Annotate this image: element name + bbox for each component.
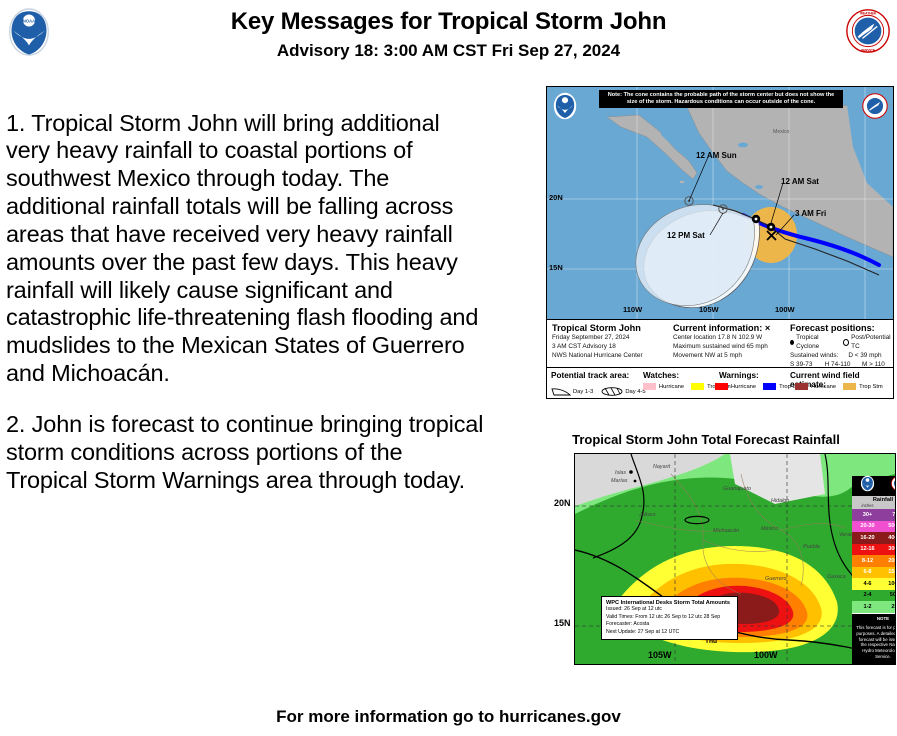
rainfall-legend-row: 20-30500-750 [852,521,896,533]
rainfall-inches-value: 16-20 [852,532,883,544]
svg-text:Guerrero: Guerrero [765,576,787,582]
wind-tropstm-swatch [843,383,856,390]
legend-warnings-title: Warnings: [719,371,759,380]
storm-agency: NWS National Hurricane Center [552,351,692,360]
key-messages-list: 1. Tropical Storm John will bring additi… [6,86,486,513]
rainfall-inches-value: 2-4 [852,590,883,602]
svg-text:Nayarit: Nayarit [653,464,671,470]
rainfall-legend-rows: 30+750+20-30500-75016-20400-50012-16300-… [852,509,896,613]
svg-text:WEATHER: WEATHER [860,11,877,15]
rainfall-inches-value: 30+ [852,509,883,521]
svg-text:Hidalgo: Hidalgo [771,498,789,504]
rainfall-legend: Rainfall inches mm 30+750+20-30500-75016… [852,476,896,665]
forecast-point-label-12am-sat: 12 AM Sat [781,177,819,186]
nws-logo-icon-cone [862,92,888,120]
page-title: Key Messages for Tropical Storm John [0,8,897,36]
cone-legend-panel: Potential track area: Day 1-3 Day 4-5 Wa… [547,367,893,398]
forecast-cone-graphic[interactable]: Note: The cone contains the probable pat… [546,86,894,399]
rainfall-legend-row: 4-6100-150 [852,578,896,590]
current-center-location: Center location 17.8 N 102.9 W [673,333,795,342]
rainfall-note-body: This forecast is for planning purposes. … [852,623,896,661]
rainfall-legend-row: 8-12200-300 [852,555,896,567]
legend-track-day13: Day 1-3 [573,389,593,395]
rain-lon-label-105w: 105W [648,650,672,660]
rainfall-legend-row: 30+750+ [852,509,896,521]
rainfall-legend-row: 12-16300-400 [852,544,896,556]
wpc-info-box: WPC International Desks Storm Total Amou… [601,596,738,640]
sustained-winds-label: Sustained winds: [790,351,838,360]
cone-info-panel: Tropical Storm John Friday September 27,… [547,319,893,367]
forecast-positions-title: Forecast positions: [790,323,892,333]
wind-scale-d: D < 39 mph [848,351,881,360]
legend-warn-hurricane: Hurricane [731,384,756,390]
rainfall-mm-value: 300-400 [883,544,896,556]
cone-lon-label-100w: 100W [775,305,795,314]
rainfall-inches-value: 8-12 [852,555,883,567]
rainfall-legend-row: 1-225-50 [852,601,896,613]
rainfall-mm-value: 750+ [883,509,896,521]
forecast-point-label-3am-fri: 3 AM Fri [795,209,826,218]
cone-lon-label-110w: 110W [623,305,642,314]
noaa-logo-icon-rain [860,475,875,497]
page-subtitle: Advisory 18: 3:00 AM CST Fri Sep 27, 202… [0,41,897,61]
map-country-label: Mexico [773,129,789,135]
forecast-point-label-12pm-sat: 12 PM Sat [667,231,705,240]
rainfall-title: Tropical Storm John Total Forecast Rainf… [556,432,856,447]
noaa-logo-icon-cone [552,92,578,120]
legend-potential-track-title: Potential track area: [551,371,629,380]
track-day13-icon [551,383,571,401]
watch-hurricane-swatch [643,383,656,390]
tropical-cyclone-dot-icon [790,340,794,345]
warn-hurricane-swatch [715,383,728,390]
rainfall-inches-value: 20-30 [852,521,883,533]
cone-lat-label-20n: 20N [549,193,563,202]
rainfall-inches-value: 1-2 [852,601,883,613]
warn-tropstm-swatch [763,383,776,390]
rainfall-forecast-graphic[interactable]: Tropical Storm John Total Forecast Rainf… [556,432,896,668]
rain-lat-label-15n: 15N [554,618,571,628]
rain-lat-label-20n: 20N [554,498,571,508]
svg-text:Guanajuato: Guanajuato [723,486,751,492]
rainfall-inches-value: 12-16 [852,544,883,556]
legend-tropical-cyclone: Tropical Cyclone [796,333,835,351]
rainfall-inches-value: 6-8 [852,567,883,579]
watch-tropstm-swatch [691,383,704,390]
legend-wind-hurricane: Hurricane [811,384,836,390]
wpc-issued: Issued: 26 Sep at 12 utc [606,606,733,614]
wpc-forecaster: Forecaster: Acosta [606,621,733,629]
nws-logo-icon: WEATHER SERVICE [845,5,891,57]
rainfall-legend-row: 16-20400-500 [852,532,896,544]
storm-date: Friday September 27, 2024 [552,333,692,342]
svg-text:Michoacán: Michoacán [713,528,739,534]
legend-watch-hurricane: Hurricane [659,384,684,390]
post-potential-tc-dot-icon [843,339,849,346]
rainfall-map[interactable]: Islas Marías Nayarit Jalisco Guanajuato … [574,453,896,665]
rainfall-mm-value: 500-750 [883,521,896,533]
rainfall-unit-mm: mm [883,503,896,508]
rainfall-mm-value: 400-500 [883,532,896,544]
svg-text:Islas: Islas [615,470,626,476]
cone-lat-label-15n: 15N [549,263,563,272]
svg-text:México: México [761,526,778,532]
track-day45-icon [601,383,623,401]
rainfall-mm-value: 200-300 [883,555,896,567]
rainfall-note-title: NOTE [852,614,896,624]
key-message-2: 2. John is forecast to continue bringing… [6,411,486,495]
svg-text:Puebla: Puebla [803,544,820,550]
wpc-valid-times: Valid Times: From 12 utc 26 Sep to 12 ut… [606,614,733,622]
legend-wind-tropstm: Trop Stm [859,384,883,390]
nws-logo-icon-rain [891,475,896,497]
svg-text:Oaxaca: Oaxaca [827,574,846,580]
svg-text:Marías: Marías [611,478,628,484]
current-information-title: Current information: × [673,323,795,333]
wind-hurricane-swatch [795,383,808,390]
legend-watches-title: Watches: [643,371,679,380]
rainfall-mm-value: 150-200 [883,567,896,579]
storm-name: Tropical Storm John [552,323,692,333]
rainfall-inches-value: 4-6 [852,578,883,590]
rainfall-mm-value: 100-150 [883,578,896,590]
footer-text: For more information go to hurricanes.go… [0,707,897,727]
cone-map[interactable]: Note: The cone contains the probable pat… [547,87,893,319]
cone-note-text: Note: The cone contains the probable pat… [599,90,843,108]
svg-text:Jalisco: Jalisco [638,512,655,518]
current-max-wind: Maximum sustained wind 65 mph [673,342,795,351]
current-movement: Movement NW at 5 mph [673,351,795,360]
rainfall-mm-value: 50-100 [883,590,896,602]
rainfall-legend-row: 6-8150-200 [852,567,896,579]
cone-lon-label-105w: 105W [699,305,719,314]
storm-advisory: 3 AM CST Advisory 18 [552,342,692,351]
rain-lon-label-100w: 100W [754,650,778,660]
svg-text:SERVICE: SERVICE [861,49,876,53]
rainfall-mm-value: 25-50 [883,601,896,613]
legend-post-potential-tc: Post/Potential TC [851,333,892,351]
forecast-point-label-12am-sun: 12 AM Sun [696,151,737,160]
rainfall-legend-row: 2-450-100 [852,590,896,602]
rainfall-unit-inches: inches [852,503,883,508]
wpc-next-update: Next Update: 27 Sep at 12 UTC [606,629,733,637]
key-message-1: 1. Tropical Storm John will bring additi… [6,110,486,388]
